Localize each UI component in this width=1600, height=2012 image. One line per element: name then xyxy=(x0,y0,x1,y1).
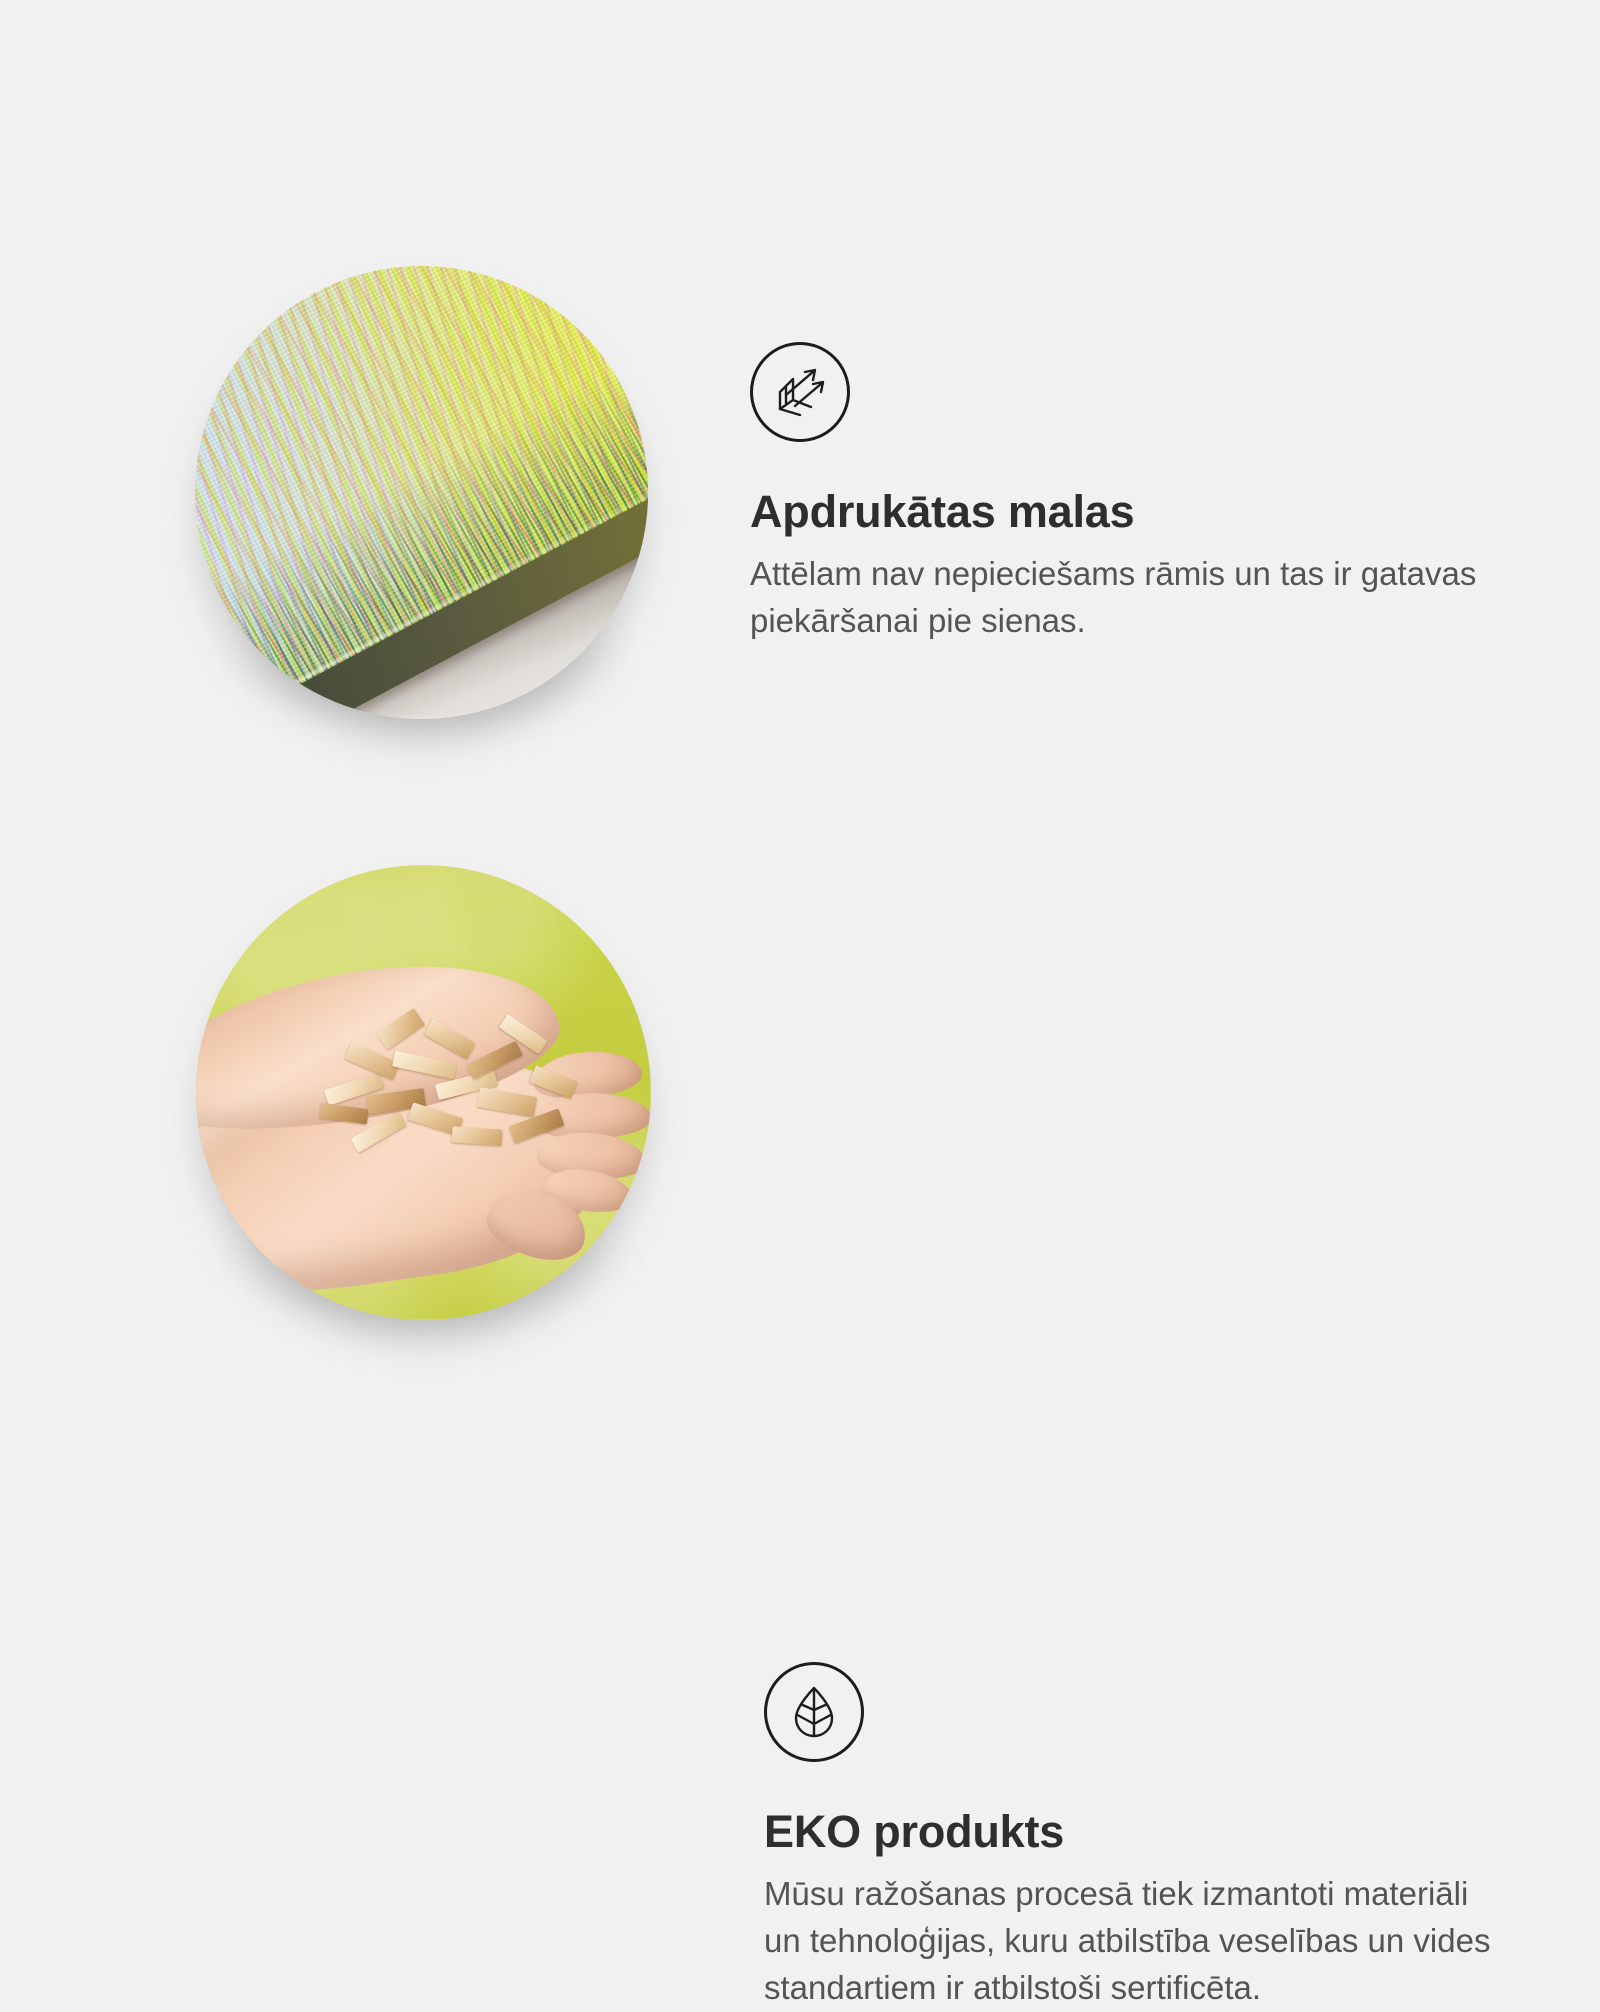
wood-chip xyxy=(376,1008,424,1050)
feature-block-eco-product: EKO produkts Mūsu ražošanas procesā tiek… xyxy=(0,800,1600,1600)
feature-description: Mūsu ražošanas procesā tiek izmantoti ma… xyxy=(764,1871,1504,2012)
media-wrap-eco-product xyxy=(196,865,651,1320)
leaf-glyph xyxy=(785,1683,843,1741)
feature-title: Apdrukātas malas xyxy=(750,488,1490,535)
feature-description: Attēlam nav nepieciešams rāmis un tas ir… xyxy=(750,551,1490,645)
canvas-wrapped-edge-icon xyxy=(750,342,850,442)
feature-block-printed-edges: Apdrukātas malas Attēlam nav nepieciešam… xyxy=(0,0,1600,800)
wood-chip xyxy=(319,1103,368,1124)
text-column-eco-product: EKO produkts Mūsu ražošanas procesā tiek… xyxy=(764,1662,1504,2012)
wood-chip xyxy=(451,1126,502,1146)
wood-chip xyxy=(529,1066,577,1100)
wood-chip xyxy=(392,1051,457,1080)
wood-chip-pile xyxy=(314,997,578,1179)
wood-chip xyxy=(477,1087,538,1117)
feature-title: EKO produkts xyxy=(764,1808,1504,1855)
wood-chip xyxy=(467,1040,524,1079)
text-column-printed-edges: Apdrukātas malas Attēlam nav nepieciešam… xyxy=(750,342,1490,645)
leaf-icon xyxy=(764,1662,864,1762)
wood-chips-in-hands-photo xyxy=(196,865,651,1320)
canvas-wrapped-edge-glyph xyxy=(770,362,830,422)
canvas-print-corner-photo xyxy=(195,266,648,719)
media-wrap-printed-edges xyxy=(195,266,648,719)
feature-panel: Apdrukātas malas Attēlam nav nepieciešam… xyxy=(0,0,1600,1600)
wood-chip xyxy=(424,1018,477,1059)
